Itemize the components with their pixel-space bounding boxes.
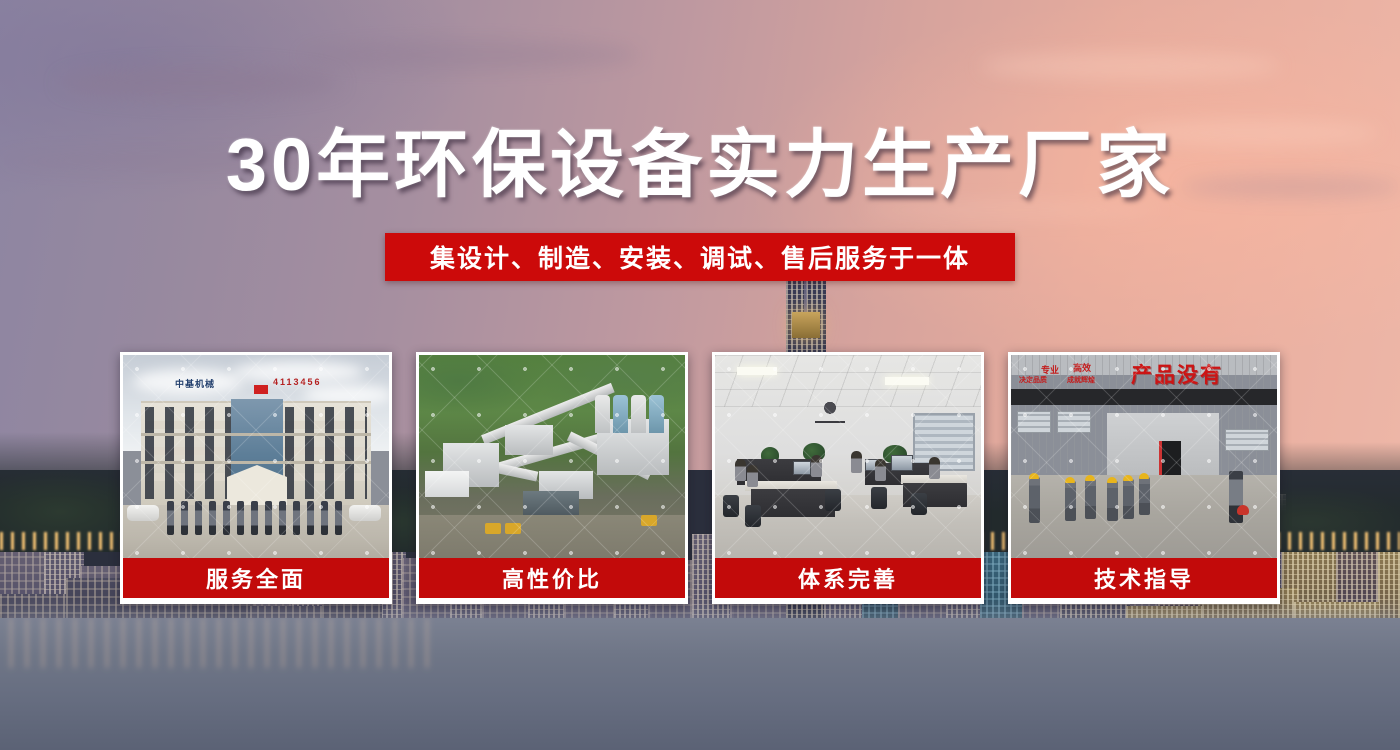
feature-card[interactable]: 高性价比	[416, 352, 688, 604]
promo-banner: 30年环保设备实力生产厂家 集设计、制造、安装、调试、售后服务于一体 中基机械 …	[0, 0, 1400, 750]
water-reflection	[10, 618, 430, 668]
office-interior-photo	[715, 355, 981, 558]
card-caption-label: 技术指导	[1094, 562, 1194, 594]
subtitle-banner: 集设计、制造、安装、调试、售后服务于一体	[385, 233, 1015, 281]
subtitle-text: 集设计、制造、安装、调试、售后服务于一体	[430, 239, 970, 275]
feature-card[interactable]: 体系完善	[712, 352, 984, 604]
cloud-shape	[980, 52, 1280, 80]
card-caption-bar: 体系完善	[715, 558, 981, 598]
cloud-shape	[300, 40, 640, 70]
workshop-workers-photo: 产品没有 决定品质 专业 高效 成就辉煌	[1011, 355, 1277, 558]
photo-watermark	[1011, 355, 1277, 558]
card-caption-bar: 高性价比	[419, 558, 685, 598]
feature-card[interactable]: 产品没有 决定品质 专业 高效 成就辉煌	[1008, 352, 1280, 604]
card-caption-bar: 服务全面	[123, 558, 389, 598]
card-caption-label: 服务全面	[206, 562, 306, 594]
aerial-factory-photo	[419, 355, 685, 558]
card-caption-bar: 技术指导	[1011, 558, 1277, 598]
card-caption-label: 体系完善	[798, 562, 898, 594]
photo-watermark	[419, 355, 685, 558]
cloud-shape	[60, 66, 340, 100]
photo-watermark	[123, 355, 389, 558]
card-caption-label: 高性价比	[502, 562, 602, 594]
photo-watermark	[715, 355, 981, 558]
feature-card-row: 中基机械 4113456 服务全面	[120, 352, 1280, 604]
tower-crown-light	[792, 312, 820, 338]
company-headquarters-photo: 中基机械 4113456	[123, 355, 389, 558]
feature-card[interactable]: 中基机械 4113456 服务全面	[120, 352, 392, 604]
page-title: 30年环保设备实力生产厂家	[0, 128, 1400, 202]
